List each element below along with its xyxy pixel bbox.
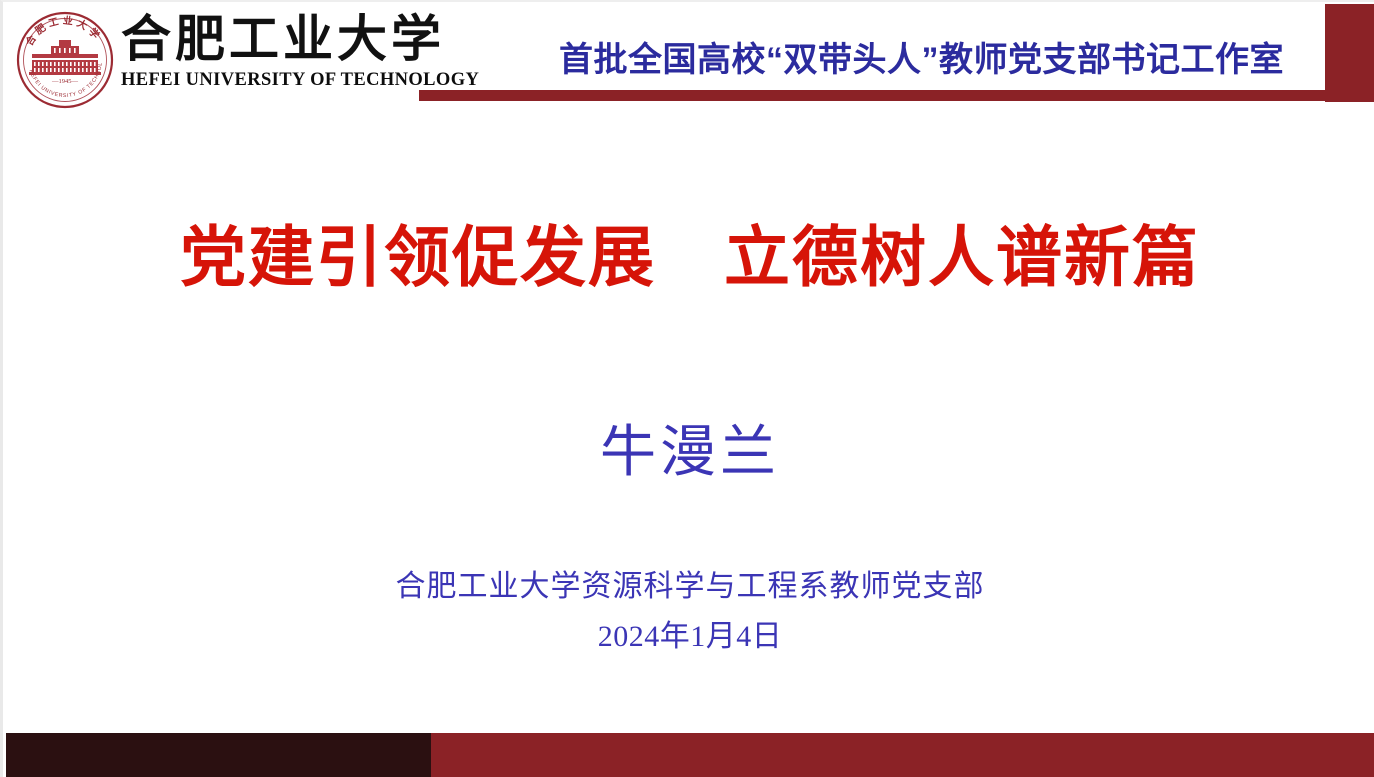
footer-left-band <box>6 733 431 777</box>
slide-footer <box>3 733 1374 777</box>
presenter-name: 牛漫兰 <box>3 417 1374 489</box>
header-right-accent-block <box>1325 4 1374 102</box>
header-red-rule <box>419 90 1325 101</box>
university-logo: 合肥工业大学 HEFEI UNIVERSITY OF TECHNOLOGY —1… <box>7 6 415 110</box>
presentation-slide: 合肥工业大学 HEFEI UNIVERSITY OF TECHNOLOGY —1… <box>0 0 1374 777</box>
presenter-affiliation: 合肥工业大学资源科学与工程系教师党支部 <box>3 566 1374 608</box>
slide-main-title: 党建引领促发展 立德树人谱新篇 <box>3 217 1374 297</box>
footer-right-band <box>431 733 1374 777</box>
header-banner-text: 首批全国高校“双带头人”教师党支部书记工作室 <box>559 40 1284 80</box>
university-name-en: HEFEI UNIVERSITY OF TECHNOLOGY <box>121 70 413 91</box>
seal-year: —1945— <box>51 78 79 85</box>
presentation-date: 2024年1月4日 <box>3 616 1374 658</box>
university-seal-icon: 合肥工业大学 HEFEI UNIVERSITY OF TECHNOLOGY —1… <box>15 10 115 110</box>
university-name-cn: 合肥工业大学 <box>121 10 413 68</box>
university-wordmark: 合肥工业大学 HEFEI UNIVERSITY OF TECHNOLOGY <box>121 10 413 91</box>
slide-header: 合肥工业大学 HEFEI UNIVERSITY OF TECHNOLOGY —1… <box>3 2 1374 120</box>
